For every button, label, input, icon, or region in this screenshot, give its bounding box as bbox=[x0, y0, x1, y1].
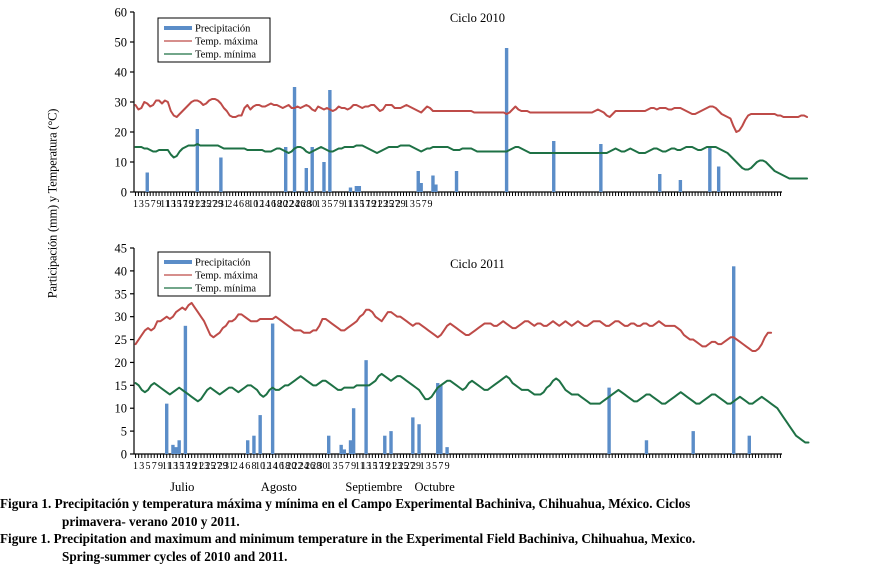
ciclo-2010-y-tick-label-4: 40 bbox=[115, 66, 128, 80]
figure-caption: Figura 1. Precipitación y temperatura má… bbox=[0, 495, 893, 587]
precipitation-bar bbox=[717, 167, 720, 193]
ciclo-2010-x-tick-label-6: 7 bbox=[151, 199, 156, 210]
precipitation-bar bbox=[358, 186, 361, 192]
precipitation-bar bbox=[552, 141, 555, 192]
precipitation-bar bbox=[219, 158, 222, 193]
ciclo-2010-x-tick-label-66: 5 bbox=[327, 199, 332, 210]
ciclo-2011-x-tick-label-0: 1 bbox=[133, 461, 138, 472]
figure-root: Participación (mm) y Temperatura (°C) 01… bbox=[0, 0, 893, 587]
ciclo-2011-legend: PrecipitaciónTemp. máximaTemp. mínima bbox=[158, 252, 270, 296]
ciclo-2010-x-tick-label-2: 3 bbox=[139, 199, 144, 210]
legend-label-temp-min: Temp. mínima bbox=[195, 284, 256, 295]
precipitation-bar bbox=[645, 440, 648, 454]
figure-plot-area: Participación (mm) y Temperatura (°C) 01… bbox=[0, 0, 893, 495]
ciclo-2010-y-tick-label-1: 10 bbox=[115, 156, 128, 170]
precipitation-bar bbox=[692, 431, 695, 454]
precipitation-bar bbox=[171, 445, 174, 454]
ciclo-2010-x-tick-label-62: 1 bbox=[316, 199, 321, 210]
ciclo-2010-x-tick-label-98: 7 bbox=[422, 199, 427, 210]
precipitation-bar bbox=[343, 449, 346, 454]
ciclo-2010-x-tick-label-100: 9 bbox=[428, 199, 433, 210]
precipitation-bar bbox=[258, 415, 261, 454]
ciclo-2010-x-tick-label-34: 4 bbox=[233, 199, 238, 210]
precipitation-bar bbox=[355, 186, 358, 192]
ciclo-2010-precipitation-bars bbox=[146, 48, 721, 192]
ciclo-2010-x-tick-label-92: 1 bbox=[404, 199, 409, 210]
precipitation-bar bbox=[339, 445, 342, 454]
precipitation-bar bbox=[419, 183, 422, 192]
precipitation-bar bbox=[439, 385, 442, 454]
ciclo-2011-title: Ciclo 2011 bbox=[450, 257, 505, 271]
ciclo-2010-title: Ciclo 2010 bbox=[450, 11, 505, 25]
precipitation-bar bbox=[322, 162, 325, 192]
precipitation-bar bbox=[505, 48, 508, 192]
precipitation-bar bbox=[146, 173, 149, 193]
ciclo-2011-x-tick-label-34: 4 bbox=[239, 461, 244, 472]
temp-min-line bbox=[136, 374, 809, 443]
legend-label-temp-max: Temp. máxima bbox=[195, 37, 258, 48]
precipitation-bar bbox=[293, 87, 296, 192]
ciclo-2011-x-tick-label-32: 2 bbox=[233, 461, 238, 472]
ciclo-2010-x-tick-label-32: 2 bbox=[227, 199, 232, 210]
precipitation-bar bbox=[436, 383, 439, 454]
ciclo-2010-x-tick-label-36: 6 bbox=[239, 199, 244, 210]
precipitation-bar bbox=[177, 440, 180, 454]
ciclo-2011-y-tick-label-2: 10 bbox=[115, 402, 128, 416]
ciclo-2011-y-tick-label-5: 25 bbox=[115, 333, 128, 347]
ciclo-2011-x-tick-label-66: 5 bbox=[339, 461, 344, 472]
ciclo-2010-x-tick-label-94: 3 bbox=[410, 199, 415, 210]
precipitation-bar bbox=[349, 188, 352, 193]
precipitation-bar bbox=[305, 168, 308, 192]
precipitation-bar bbox=[389, 431, 392, 454]
precipitation-bar bbox=[455, 171, 458, 192]
precipitation-bar bbox=[417, 424, 420, 454]
ciclo-2011-y-tick-label-8: 40 bbox=[115, 264, 128, 278]
legend-label-precipitation: Precipitación bbox=[195, 258, 251, 269]
caption-en-line2: Spring-summer cycles of 2010 and 2011. bbox=[0, 548, 893, 566]
temp-min-line bbox=[135, 144, 807, 179]
precipitation-bar bbox=[196, 129, 199, 192]
ciclo-2011-x-tick-label-36: 6 bbox=[245, 461, 250, 472]
ciclo-2011-x-tick-label-92: 1 bbox=[420, 461, 425, 472]
ciclo-2011-y-tick-label-7: 35 bbox=[115, 287, 128, 301]
ciclo-2011-y-tick-label-6: 30 bbox=[115, 310, 128, 324]
ciclo-2010-y-tick-label-6: 60 bbox=[115, 6, 128, 20]
ciclo-2010-group: 0102030405060135791113151719212325272931… bbox=[115, 6, 808, 211]
ciclo-2011-x-tick-label-2: 3 bbox=[139, 461, 144, 472]
precipitation-bar bbox=[658, 174, 661, 192]
precipitation-bar bbox=[748, 436, 751, 454]
legend-label-precipitation: Precipitación bbox=[195, 24, 251, 35]
ciclo-2010-y-tick-label-3: 30 bbox=[115, 96, 128, 110]
charts-svg: 0102030405060135791113151719212325272931… bbox=[0, 0, 893, 495]
precipitation-bar bbox=[445, 447, 448, 454]
precipitation-bar bbox=[383, 436, 386, 454]
ciclo-2010-y-tick-label-2: 20 bbox=[115, 126, 128, 140]
ciclo-2011-x-tick-label-94: 3 bbox=[426, 461, 431, 472]
ciclo-2010-x-tick-label-68: 7 bbox=[333, 199, 338, 210]
precipitation-bar bbox=[352, 408, 355, 454]
ciclo-2010-x-tick-label-4: 5 bbox=[145, 199, 150, 210]
ciclo-2011-y-tick-label-4: 20 bbox=[115, 356, 128, 370]
precipitation-bar bbox=[327, 436, 330, 454]
ciclo-2011-group: 0510152025303540451357911131517192123252… bbox=[115, 242, 809, 495]
ciclo-2011-x-tick-label-100: 9 bbox=[445, 461, 450, 472]
ciclo-2011-y-tick-label-0: 0 bbox=[121, 448, 127, 462]
ciclo-2010-y-tick-label-0: 0 bbox=[121, 186, 127, 200]
ciclo-2011-x-tick-label-62: 1 bbox=[326, 461, 331, 472]
caption-es-line2: primavera- verano 2010 y 2011. bbox=[0, 513, 893, 531]
month-label-3: Octubre bbox=[415, 480, 456, 494]
precipitation-bar bbox=[434, 185, 437, 193]
temp-max-line bbox=[136, 303, 772, 351]
precipitation-bar bbox=[246, 440, 249, 454]
ciclo-2011-x-tick-label-68: 7 bbox=[345, 461, 350, 472]
ciclo-2011-x-tick-label-98: 7 bbox=[438, 461, 443, 472]
precipitation-bar bbox=[599, 144, 602, 192]
caption-en-line1: Figure 1. Precipitation and maximum and … bbox=[0, 530, 893, 548]
precipitation-bar bbox=[708, 147, 711, 192]
legend-label-temp-min: Temp. mínima bbox=[195, 50, 256, 61]
ciclo-2010-x-tick-label-96: 5 bbox=[416, 199, 421, 210]
precipitation-bar bbox=[417, 171, 420, 192]
precipitation-bar bbox=[252, 436, 255, 454]
ciclo-2010-x-tick-label-0: 1 bbox=[133, 199, 138, 210]
precipitation-bar bbox=[311, 147, 314, 192]
precipitation-bar bbox=[174, 447, 177, 454]
precipitation-bar bbox=[284, 147, 287, 192]
ciclo-2010-y-tick-label-5: 50 bbox=[115, 36, 128, 50]
precipitation-bar bbox=[364, 360, 367, 454]
ciclo-2011-x-tick-label-96: 5 bbox=[432, 461, 437, 472]
legend-label-temp-max: Temp. máxima bbox=[195, 271, 258, 282]
precipitation-bar bbox=[679, 180, 682, 192]
temp-max-line bbox=[135, 99, 807, 132]
precipitation-bar bbox=[328, 90, 331, 192]
ciclo-2010-legend: PrecipitaciónTemp. máximaTemp. mínima bbox=[158, 18, 270, 62]
caption-es-line1: Figura 1. Precipitación y temperatura má… bbox=[0, 495, 893, 513]
precipitation-bar bbox=[165, 404, 168, 454]
ciclo-2011-x-tick-label-6: 7 bbox=[152, 461, 157, 472]
ciclo-2011-y-tick-label-9: 45 bbox=[115, 242, 128, 256]
ciclo-2011-y-tick-label-1: 5 bbox=[121, 425, 127, 439]
ciclo-2011-x-tick-label-4: 5 bbox=[146, 461, 151, 472]
month-label-0: Julio bbox=[170, 480, 194, 494]
precipitation-bar bbox=[411, 417, 414, 454]
month-label-2: Septiembre bbox=[345, 480, 402, 494]
month-label-1: Agosto bbox=[261, 480, 297, 494]
ciclo-2010-x-tick-label-64: 3 bbox=[321, 199, 326, 210]
precipitation-bar bbox=[184, 326, 187, 454]
ciclo-2011-y-tick-label-3: 15 bbox=[115, 379, 128, 393]
precipitation-bar bbox=[732, 266, 735, 454]
ciclo-2011-x-tick-label-64: 3 bbox=[332, 461, 337, 472]
precipitation-bar bbox=[349, 440, 352, 454]
precipitation-bar bbox=[431, 176, 434, 193]
